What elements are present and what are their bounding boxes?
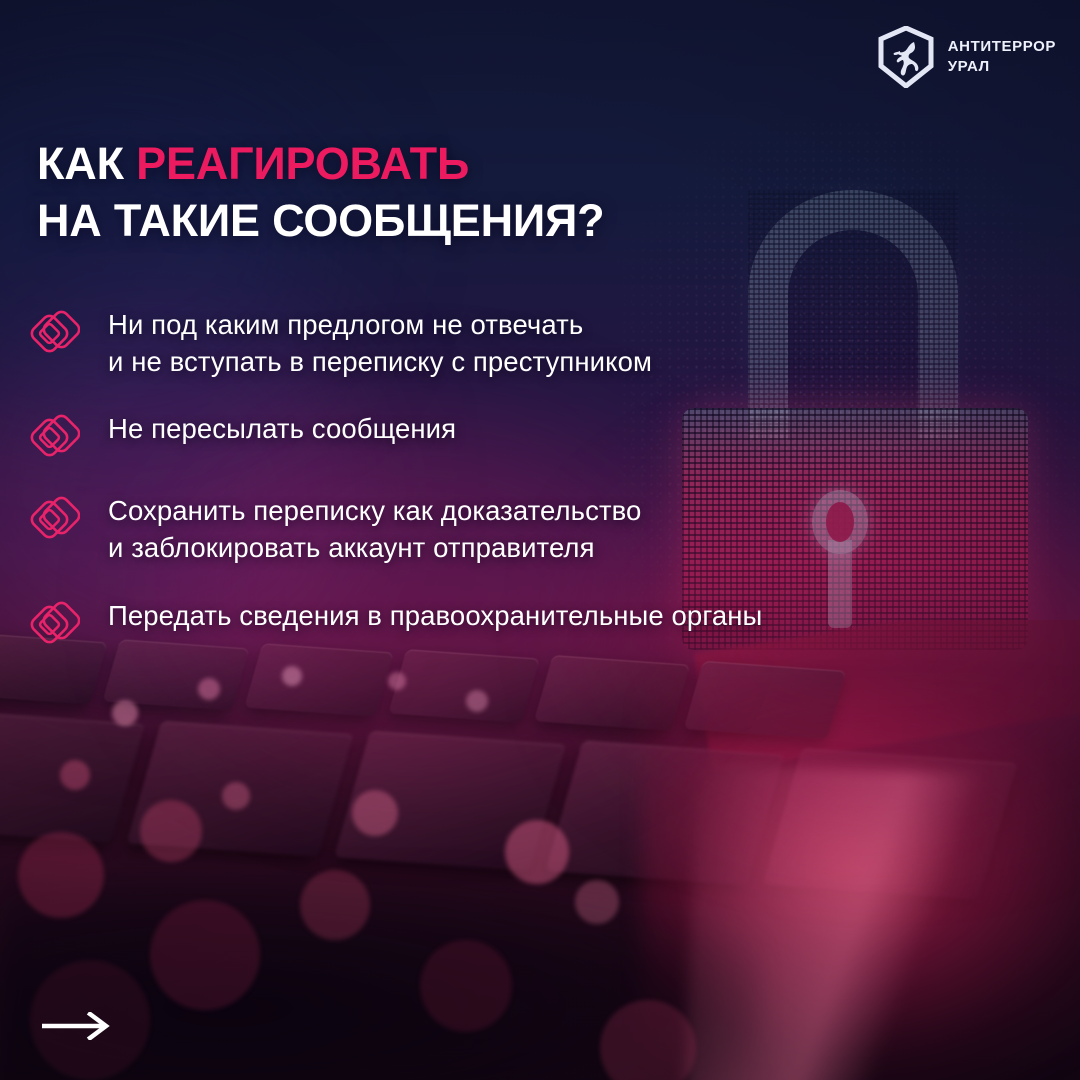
brand-name-line2: УРАЛ <box>948 57 1056 77</box>
double-diamond-icon <box>30 494 80 544</box>
brand-name: АНТИТЕРРОР УРАЛ <box>948 37 1056 78</box>
list-item: Не пересылать сообщения <box>30 410 1030 462</box>
double-diamond-icon <box>30 412 80 462</box>
list-item-text: Ни под каким предлогом не отвечать и не … <box>108 306 652 380</box>
double-diamond-icon <box>30 308 80 358</box>
advice-list: Ни под каким предлогом не отвечать и не … <box>30 306 1030 649</box>
list-item: Сохранить переписку как доказательство и… <box>30 492 1030 566</box>
poster-canvas: АНТИТЕРРОР УРАЛ КАК РЕАГИРОВАТЬ НА ТАКИЕ… <box>0 0 1080 1080</box>
list-item: Передать сведения в правоохранительные о… <box>30 597 1030 649</box>
list-item: Ни под каким предлогом не отвечать и не … <box>30 306 1030 380</box>
brand-name-line1: АНТИТЕРРОР <box>948 37 1056 57</box>
list-item-text: Сохранить переписку как доказательство и… <box>108 492 641 566</box>
shield-lizard-icon <box>878 26 934 88</box>
arrow-right-icon[interactable] <box>40 1012 112 1040</box>
title-line1-plain: КАК <box>37 138 136 189</box>
title-line2: НА ТАКИЕ СООБЩЕНИЯ? <box>37 195 604 246</box>
list-item-text: Передать сведения в правоохранительные о… <box>108 597 762 634</box>
list-item-text: Не пересылать сообщения <box>108 410 456 447</box>
double-diamond-icon <box>30 599 80 649</box>
title-line1-accent: РЕАГИРОВАТЬ <box>136 138 469 189</box>
brand-logo[interactable]: АНТИТЕРРОР УРАЛ <box>878 26 1056 88</box>
page-title: КАК РЕАГИРОВАТЬ НА ТАКИЕ СООБЩЕНИЯ? <box>37 136 604 249</box>
